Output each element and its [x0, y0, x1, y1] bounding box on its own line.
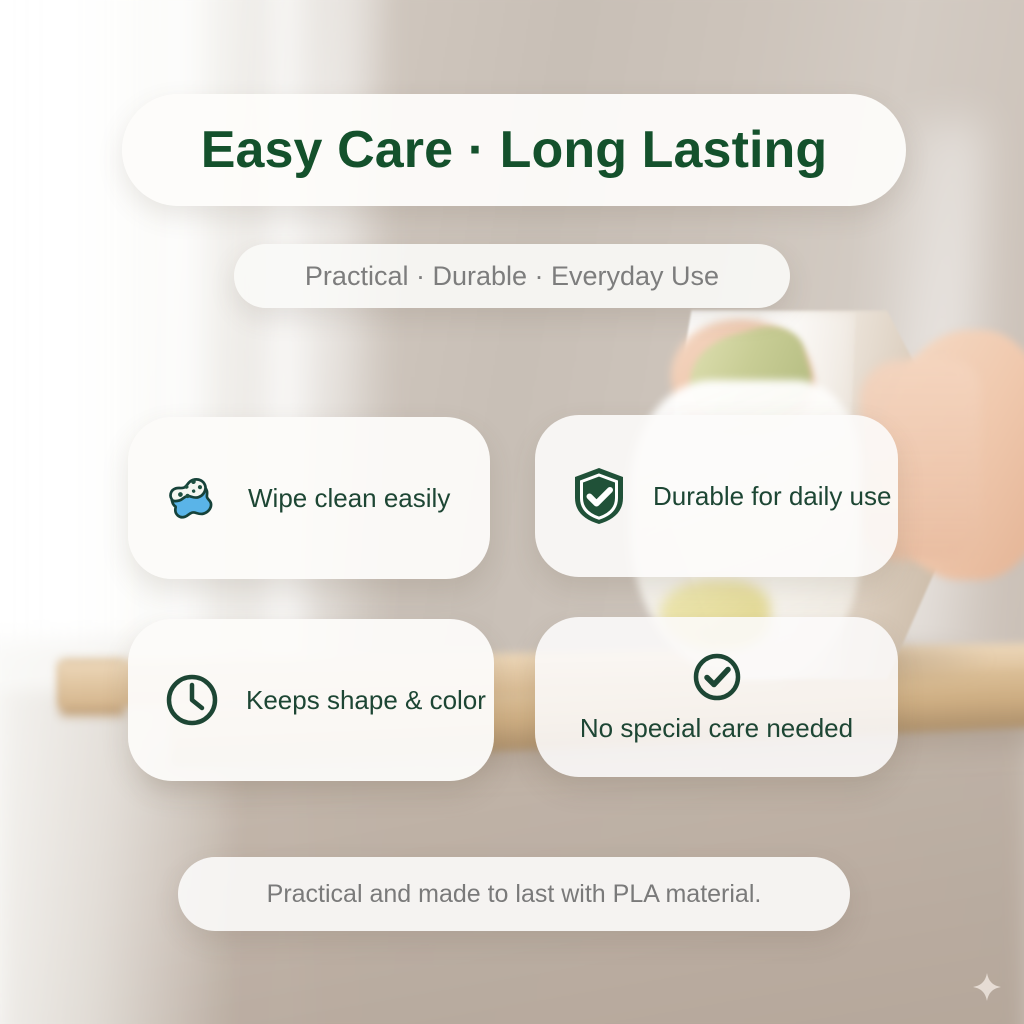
- sparkle-icon: [972, 972, 1002, 1002]
- feature-label-durable: Durable for daily use: [653, 481, 891, 512]
- footer-note: Practical and made to last with PLA mate…: [267, 880, 762, 909]
- subtitle-card: Practical · Durable · Everyday Use: [234, 244, 790, 308]
- content-overlay: Easy Care · Long Lasting Practical · Dur…: [0, 0, 1024, 1024]
- footer-card: Practical and made to last with PLA mate…: [178, 857, 850, 931]
- check-circle-icon: [691, 651, 743, 703]
- feature-label-no-special-care: No special care needed: [580, 713, 853, 744]
- feature-label-wipe-clean: Wipe clean easily: [248, 483, 450, 514]
- feature-card-no-special-care[interactable]: No special care needed: [535, 617, 898, 777]
- sponge-icon: [164, 469, 222, 527]
- feature-card-durable[interactable]: Durable for daily use: [535, 415, 898, 577]
- feature-card-keeps-shape[interactable]: Keeps shape & color: [128, 619, 494, 781]
- title-card: Easy Care · Long Lasting: [122, 94, 906, 206]
- clock-icon: [164, 672, 220, 728]
- feature-label-keeps-shape: Keeps shape & color: [246, 685, 486, 716]
- page-title: Easy Care · Long Lasting: [201, 120, 828, 180]
- feature-card-wipe-clean[interactable]: Wipe clean easily: [128, 417, 490, 579]
- page-subtitle: Practical · Durable · Everyday Use: [305, 261, 719, 292]
- shield-check-icon: [571, 466, 627, 526]
